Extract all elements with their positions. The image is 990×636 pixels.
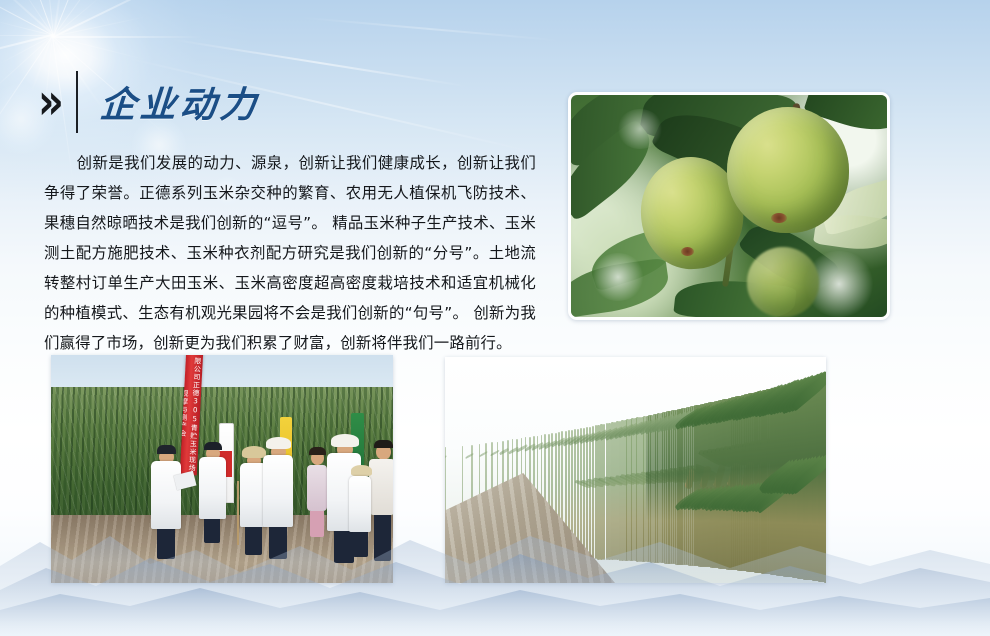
pear-orchard-photo [568,92,890,320]
casual-top [307,465,327,511]
person-figure [307,461,327,537]
corn-stalk [592,426,594,559]
person-legs [204,519,220,543]
white-lab-coat [263,455,293,527]
white-lab-coat [199,457,226,519]
sun-ray [2,0,54,36]
person-figure [263,455,293,559]
sun-ray [0,35,53,65]
straw-hat [351,465,372,476]
person-figure [151,461,181,559]
corn-stalk [589,427,591,560]
person-hair [204,442,222,450]
person-hair [157,445,176,454]
person-figure [199,457,226,543]
sun-ray [53,0,64,36]
pear-photo-canvas [571,95,887,317]
sun-ray [43,0,54,36]
sky-streak [300,17,559,42]
double-chevron-right-icon: » [38,77,54,127]
corn-stalk [583,428,585,560]
sun-ray [53,0,189,38]
bokeh-highlight [591,253,645,301]
sun-ray [53,16,147,37]
sun-ray [0,0,54,36]
person-legs [269,527,287,559]
body-paragraph-text: 创新是我们发展的动力、源泉，创新让我们健康成长，创新让我们争得了荣誉。正德系列玉… [44,154,536,352]
corn-stalk [586,427,588,559]
person-legs [245,527,262,555]
sun-ray [0,0,55,36]
sun-ray [53,0,101,37]
page-title: 企业动力 [98,76,262,128]
field-day-photo-canvas: 限公司正德305青贮玉米现场观摩与测产会 [51,355,393,583]
heading-divider [76,71,78,133]
sun-ray [53,0,110,37]
sun-ray [0,20,53,36]
sun-ray [18,0,54,36]
person-figure [369,455,393,561]
white-lab-coat [151,461,181,529]
field-day-photo: 限公司正德305青贮玉米现场观摩与测产会 [51,355,393,583]
cornfield-photo [445,357,826,583]
white-cap [266,437,291,449]
bokeh-highlight [617,109,663,149]
walking-stick [237,481,239,545]
sun-ray [0,34,53,73]
pear-calyx [771,213,787,223]
page-heading: » 企业动力 [38,68,260,136]
cornfield-photo-canvas [445,357,826,583]
person-legs [374,515,391,561]
body-paragraph: 创新是我们发展的动力、源泉，创新让我们健康成长，创新让我们争得了荣誉。正德系列玉… [44,148,536,358]
pear-fruit [727,107,849,233]
corn-stalk [580,428,582,559]
sun-ray [53,36,146,60]
sun-ray [53,36,203,38]
white-cap [331,434,359,447]
person-hair [309,447,326,455]
pear-fruit [747,247,819,317]
page-root: » 企业动力 创新是我们发展的动力、源泉，创新让我们健康成长，创新让我们争得了荣… [0,0,990,636]
sun-ray [52,36,108,65]
sun-ray [53,0,110,36]
person-hair [374,440,393,448]
person-legs [353,532,368,557]
light-shirt [369,459,393,515]
person-legs [310,511,324,537]
white-lab-coat [349,476,371,532]
pear-calyx [681,247,694,256]
person-legs [157,529,175,559]
sun-ray [0,35,53,36]
person-figure [349,473,371,557]
